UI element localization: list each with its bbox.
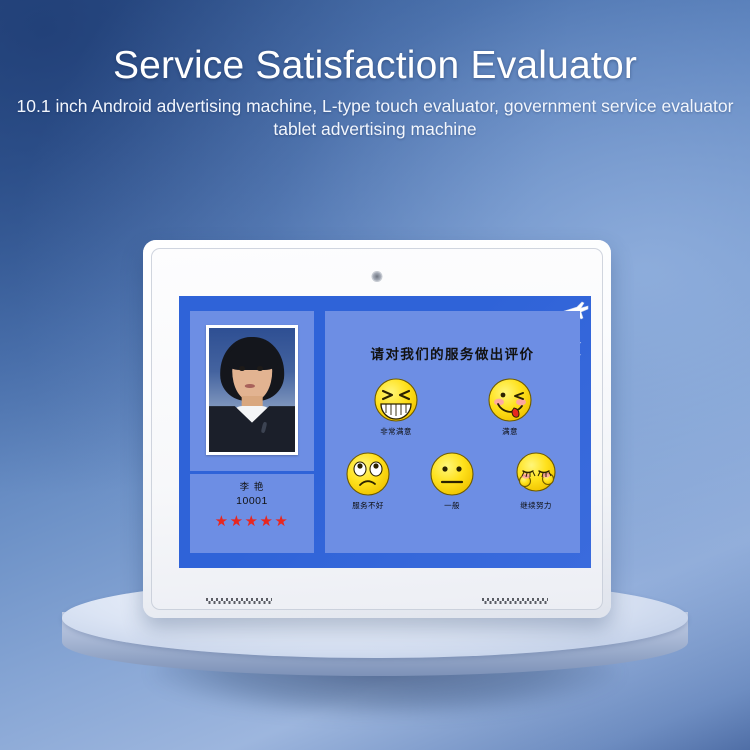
option-satisfied[interactable]: 满意 [473, 377, 547, 436]
staff-panel: 李 艳 10001 ★★★★★ [190, 311, 314, 553]
evaluation-prompt: 请对我们的服务做出评价 [325, 343, 580, 363]
tablet-bezel: 李 艳 10001 ★★★★★ 请对我们的服务做出评价 [151, 248, 603, 610]
page-title: Service Satisfaction Evaluator [0, 44, 750, 88]
option-label: 非常满意 [359, 427, 433, 436]
rating-stars: ★★★★★ [190, 514, 314, 530]
staff-id-photo [209, 328, 295, 452]
option-label: 一般 [415, 501, 489, 510]
winking-tongue-face-icon [487, 377, 533, 423]
android-tablet-evaluator: 李 艳 10001 ★★★★★ 请对我们的服务做出评价 [143, 240, 611, 618]
option-keep-trying[interactable]: 继续努力 [499, 451, 573, 510]
staff-name: 李 艳 [190, 481, 314, 494]
evaluation-panel: 请对我们的服务做出评价 [325, 311, 580, 553]
staff-photo-frame [206, 325, 298, 455]
worried-frowning-face-icon [345, 451, 391, 497]
page-subtitle: 10.1 inch Android advertising machine, L… [0, 95, 750, 141]
speaker-grille-left-icon [206, 598, 272, 604]
panel-divider [190, 471, 314, 474]
grinning-teeth-face-icon [373, 377, 419, 423]
header: Service Satisfaction Evaluator 10.1 inch… [0, 0, 750, 141]
tablet-screen[interactable]: 李 艳 10001 ★★★★★ 请对我们的服务做出评价 [179, 296, 591, 568]
option-label: 满意 [473, 427, 547, 436]
cheering-fists-face-icon [513, 451, 559, 497]
option-bad-service[interactable]: 服务不好 [331, 451, 405, 510]
speaker-grille-right-icon [482, 598, 548, 604]
neutral-face-icon [429, 451, 475, 497]
option-average[interactable]: 一般 [415, 451, 489, 510]
option-very-satisfied[interactable]: 非常满意 [359, 377, 433, 436]
option-label: 继续努力 [499, 501, 573, 510]
front-camera-icon [373, 272, 382, 281]
product-banner: Service Satisfaction Evaluator 10.1 inch… [0, 0, 750, 750]
option-label: 服务不好 [331, 501, 405, 510]
staff-id: 10001 [190, 494, 314, 508]
staff-info: 李 艳 10001 ★★★★★ [190, 481, 314, 530]
